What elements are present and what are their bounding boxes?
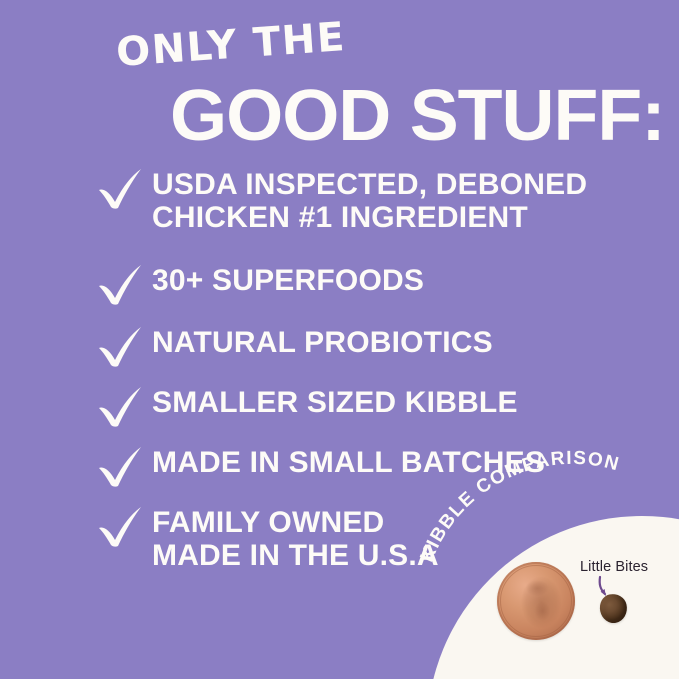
- penny-face-relief: [504, 569, 568, 633]
- check-icon: [96, 444, 144, 488]
- kibble-label: Little Bites: [580, 559, 648, 575]
- list-item: 30+ SUPERFOODS: [96, 262, 424, 306]
- list-item: USDA INSPECTED, DEBONED CHICKEN #1 INGRE…: [96, 166, 587, 234]
- product-feature-poster: ONLY THE GOOD STUFF: USDA INSPECTED, DEB…: [0, 0, 679, 679]
- curved-arrow-icon: [594, 575, 624, 601]
- headline-line-2: GOOD STUFF:: [170, 80, 665, 152]
- list-item-label: USDA INSPECTED, DEBONED CHICKEN #1 INGRE…: [152, 166, 587, 234]
- check-icon: [96, 324, 144, 368]
- list-item: MADE IN SMALL BATCHES: [96, 444, 545, 488]
- check-icon: [96, 504, 144, 548]
- check-icon: [96, 262, 144, 306]
- list-item-label: NATURAL PROBIOTICS: [152, 324, 493, 359]
- list-item-label: MADE IN SMALL BATCHES: [152, 444, 545, 479]
- list-item: FAMILY OWNED MADE IN THE U.S.A: [96, 504, 439, 572]
- list-item: NATURAL PROBIOTICS: [96, 324, 493, 368]
- check-icon: [96, 166, 144, 210]
- list-item: SMALLER SIZED KIBBLE: [96, 384, 518, 428]
- headline-line-1: ONLY THE: [115, 14, 347, 76]
- check-icon: [96, 384, 144, 428]
- headline-block: ONLY THE GOOD STUFF:: [0, 24, 679, 154]
- list-item-label: FAMILY OWNED MADE IN THE U.S.A: [152, 504, 439, 572]
- list-item-label: SMALLER SIZED KIBBLE: [152, 384, 518, 419]
- penny: [497, 562, 575, 640]
- list-item-label: 30+ SUPERFOODS: [152, 262, 424, 297]
